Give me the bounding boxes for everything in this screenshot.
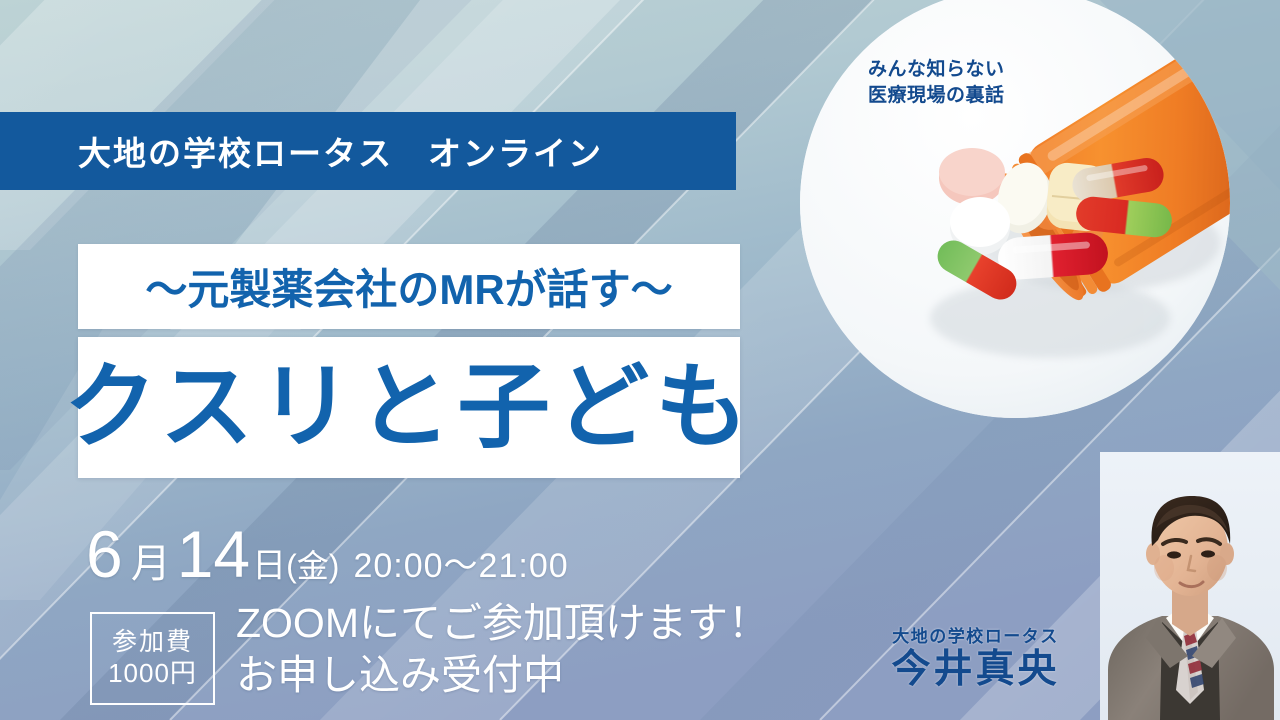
circle-caption-line2: 医療現場の裏話 — [868, 83, 1098, 109]
month-unit: 月 — [131, 544, 171, 584]
circle-caption-line1: みんな知らない — [868, 57, 1098, 83]
presenter-credit: 大地の学校ロータス 今井真央 — [868, 622, 1083, 692]
info-line-apply: お申し込み受付中 — [236, 649, 769, 701]
circle-caption: みんな知らない 医療現場の裏話 — [868, 57, 1098, 108]
presenter-portrait-photo — [1100, 452, 1280, 720]
subtitle-box: 〜元製薬会社のMRが話す〜 — [78, 244, 740, 329]
month-number: 6 — [86, 521, 123, 587]
organization-banner: 大地の学校ロータス オンライン — [0, 112, 736, 190]
time-range: 20:00〜21:00 — [353, 549, 568, 583]
subtitle-text: 〜元製薬会社のMRが話す〜 — [145, 256, 672, 317]
day-unit: 日 — [252, 549, 286, 583]
presenter-organization: 大地の学校ロータス — [868, 622, 1083, 647]
day-of-week: (金) — [286, 550, 339, 582]
schedule-date-line: 6 月 14 日 (金) 20:00〜21:00 — [86, 521, 569, 587]
fee-amount: 1000円 — [108, 658, 197, 689]
event-poster: みんな知らない 医療現場の裏話 大地の学校ロータス オンライン 〜元製薬会社のM… — [0, 0, 1280, 720]
presenter-name: 今井真央 — [868, 649, 1083, 692]
organization-banner-text: 大地の学校ロータス オンライン — [78, 127, 603, 175]
title-box: クスリと子ども — [78, 337, 740, 478]
page-title: クスリと子ども — [64, 361, 754, 454]
participation-info: ZOOMにてご参加頂けます！ お申し込み受付中 — [236, 597, 769, 702]
day-number: 14 — [177, 521, 250, 587]
fee-label: 参加費 — [112, 628, 193, 658]
info-line-zoom: ZOOMにてご参加頂けます！ — [236, 597, 769, 649]
fee-box: 参加費 1000円 — [90, 612, 215, 705]
